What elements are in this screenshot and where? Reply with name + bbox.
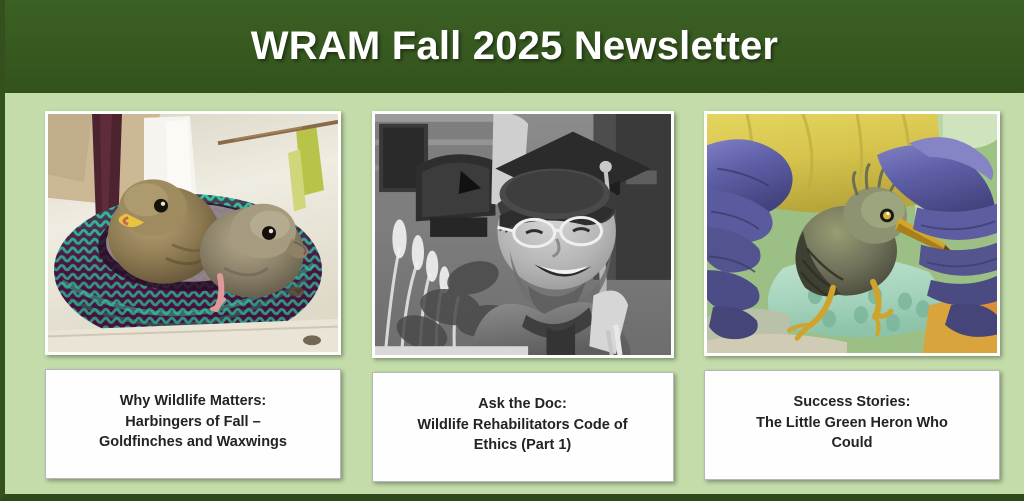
caption-card-3[interactable]: Success Stories: The Little Green Heron … <box>704 370 1000 480</box>
caption-line: Could <box>756 433 948 454</box>
caption-line: Wildlife Rehabilitators Code of <box>417 415 627 436</box>
caption-line: Why Wildlife Matters: <box>99 391 287 412</box>
caption-text-3: Success Stories: The Little Green Heron … <box>756 392 948 454</box>
article-card-3[interactable]: Success Stories: The Little Green Heron … <box>704 111 1000 494</box>
caption-line: Ethics (Part 1) <box>417 435 627 456</box>
caption-line: Harbingers of Fall – <box>99 412 287 433</box>
veterinarian-portrait-black-and-white-photo[interactable] <box>372 111 674 358</box>
banner-header: WRAM Fall 2025 Newsletter <box>0 0 1024 93</box>
article-card-2[interactable]: Ask the Doc: Wildlife Rehabilitators Cod… <box>372 111 674 494</box>
goldfinch-and-waxwing-fledglings-in-crocheted-nest-photo[interactable] <box>45 111 341 355</box>
article-columns: Why Wildlife Matters: Harbingers of Fall… <box>5 93 1024 494</box>
page-title: WRAM Fall 2025 Newsletter <box>251 24 778 69</box>
newsletter-banner: WRAM Fall 2025 Newsletter <box>0 0 1024 501</box>
caption-text-2: Ask the Doc: Wildlife Rehabilitators Cod… <box>417 394 627 456</box>
article-card-1[interactable]: Why Wildlife Matters: Harbingers of Fall… <box>45 111 341 494</box>
caption-card-2[interactable]: Ask the Doc: Wildlife Rehabilitators Cod… <box>372 372 674 482</box>
caption-line: Goldfinches and Waxwings <box>99 432 287 453</box>
green-heron-chick-in-gloved-hands-photo[interactable] <box>704 111 1000 356</box>
caption-text-1: Why Wildlife Matters: Harbingers of Fall… <box>99 391 287 453</box>
caption-line: Success Stories: <box>756 392 948 413</box>
caption-line: Ask the Doc: <box>417 394 627 415</box>
caption-card-1[interactable]: Why Wildlife Matters: Harbingers of Fall… <box>45 369 341 479</box>
caption-line: The Little Green Heron Who <box>756 413 948 434</box>
